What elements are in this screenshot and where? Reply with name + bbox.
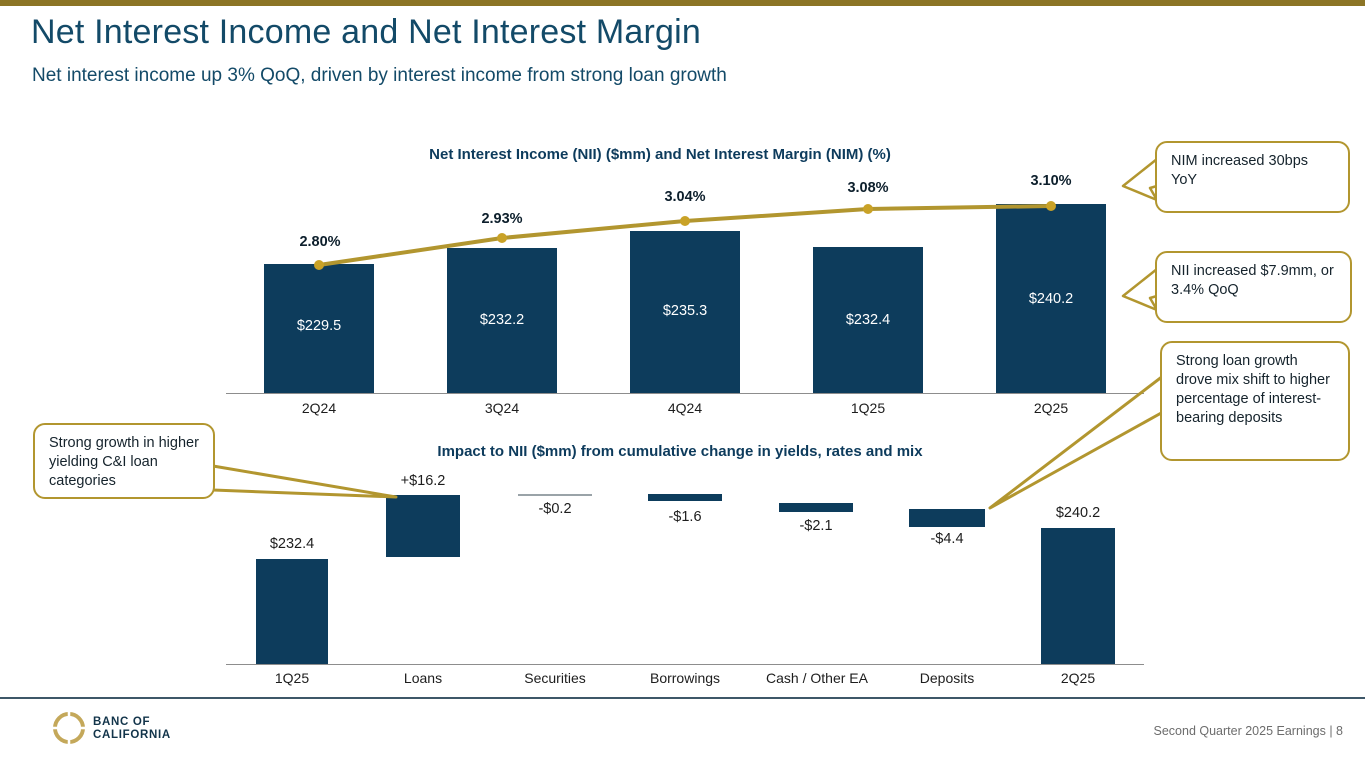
- top-accent-bar: [0, 0, 1365, 6]
- banc-of-california-logo-icon: [52, 711, 86, 745]
- cat-label-wf-securities: Securities: [500, 670, 610, 686]
- bar-wf-2q25: [1041, 528, 1115, 664]
- footer-divider: [0, 697, 1365, 699]
- page-title: Net Interest Income and Net Interest Mar…: [31, 13, 701, 52]
- chart-title-waterfall: Impact to NII ($mm) from cumulative chan…: [240, 443, 1120, 460]
- cat-label-top-2q24: 2Q24: [264, 400, 374, 416]
- footer-page-info: Second Quarter 2025 Earnings | 8: [1154, 724, 1343, 738]
- bar-value-nii-4q24: $235.3: [630, 303, 740, 319]
- cat-label-wf-cash-other-ea: Cash / Other EA: [753, 670, 881, 686]
- bar-value-wf-1q25: $232.4: [237, 536, 347, 552]
- bar-wf-loans: [386, 495, 460, 557]
- bar-value-nii-2q25: $240.2: [996, 291, 1106, 307]
- cat-label-wf-loans: Loans: [368, 670, 478, 686]
- page-subtitle: Net interest income up 3% QoQ, driven by…: [32, 65, 727, 87]
- cat-label-top-2q25: 2Q25: [996, 400, 1106, 416]
- bar-value-nii-3q24: $232.2: [447, 312, 557, 328]
- bar-value-nii-1q25: $232.4: [813, 312, 923, 328]
- bar-value-nii-2q24: $229.5: [264, 318, 374, 334]
- logo-wordmark: BANC OF CALIFORNIA: [93, 716, 171, 742]
- bar-value-wf-securities: -$0.2: [500, 501, 610, 517]
- nim-label-1q25: 3.08%: [814, 180, 922, 196]
- bar-wf-1q25: [256, 559, 328, 664]
- callout-loan-growth: Strong growth in higher yielding C&I loa…: [33, 423, 215, 499]
- nim-label-3q24: 2.93%: [448, 211, 556, 227]
- logo-wordmark-line1: BANC OF: [93, 716, 171, 729]
- callout-deposit-mix: Strong loan growth drove mix shift to hi…: [1160, 341, 1350, 461]
- bar-wf-cash-other-ea: [779, 503, 853, 512]
- axis-line-top-chart: [226, 393, 1144, 394]
- cat-label-top-3q24: 3Q24: [447, 400, 557, 416]
- cat-label-wf-deposits: Deposits: [892, 670, 1002, 686]
- bar-value-wf-cash-other-ea: -$2.1: [761, 518, 871, 534]
- bar-wf-deposits: [909, 509, 985, 527]
- cat-label-wf-2q25: 2Q25: [1023, 670, 1133, 686]
- cat-label-wf-1q25: 1Q25: [237, 670, 347, 686]
- callout-tail-deposit-mix: [990, 376, 1163, 508]
- nim-label-2q25: 3.10%: [997, 173, 1105, 189]
- cat-label-top-4q24: 4Q24: [630, 400, 740, 416]
- callout-nim-increase: NIM increased 30bps YoY: [1155, 141, 1350, 213]
- callout-tail-nim: [1123, 159, 1157, 200]
- callout-tail-nii: [1123, 269, 1157, 310]
- nim-label-2q24: 2.80%: [266, 234, 374, 250]
- bar-wf-securities: [518, 494, 592, 496]
- bar-value-wf-2q25: $240.2: [1023, 505, 1133, 521]
- bar-wf-borrowings: [648, 494, 722, 501]
- bar-value-wf-deposits: -$4.4: [892, 531, 1002, 547]
- cat-label-wf-borrowings: Borrowings: [630, 670, 740, 686]
- bar-value-wf-borrowings: -$1.6: [630, 509, 740, 525]
- bar-value-wf-loans: +$16.2: [368, 473, 478, 489]
- nim-label-4q24: 3.04%: [631, 189, 739, 205]
- logo-wordmark-line2: CALIFORNIA: [93, 729, 171, 742]
- axis-line-waterfall: [226, 664, 1144, 665]
- callout-nii-increase: NII increased $7.9mm, or 3.4% QoQ: [1155, 251, 1352, 323]
- chart-title-nii-nim: Net Interest Income (NII) ($mm) and Net …: [240, 146, 1080, 163]
- cat-label-top-1q25: 1Q25: [813, 400, 923, 416]
